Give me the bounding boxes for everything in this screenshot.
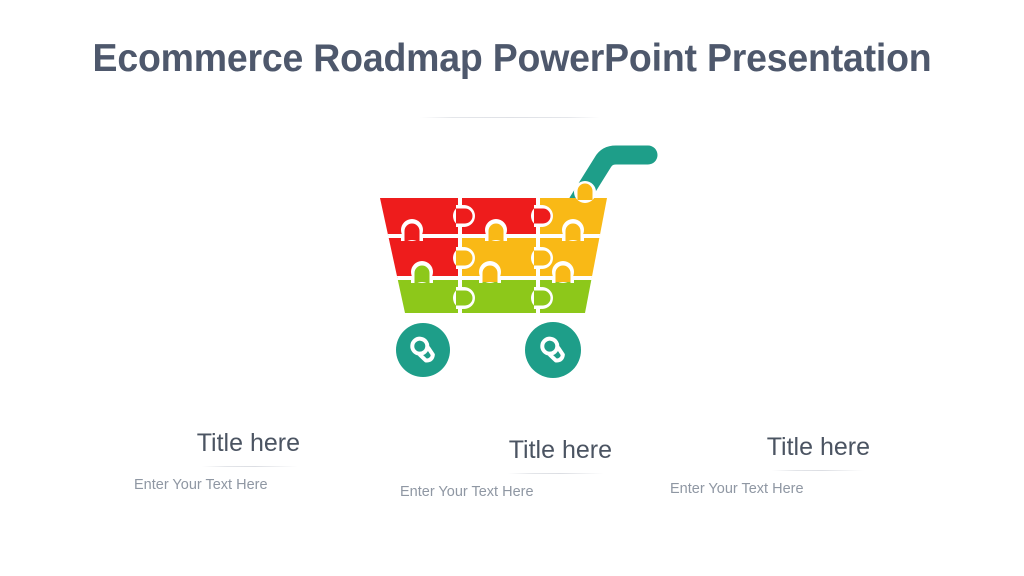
label-block-3-title: Title here — [658, 432, 894, 462]
slide-canvas: Ecommerce Roadmap PowerPoint Presentatio… — [0, 0, 1024, 576]
label-block-1: Title here Enter Your Text Here — [118, 428, 352, 495]
page-title: Ecommerce Roadmap PowerPoint Presentatio… — [20, 36, 1003, 82]
label-block-2-text: Enter Your Text Here — [390, 482, 630, 502]
label-block-1-rule — [202, 466, 298, 467]
label-block-2-rule — [508, 473, 604, 474]
label-block-2: Title here Enter Your Text Here — [390, 435, 630, 502]
label-block-3-text: Enter Your Text Here — [658, 479, 894, 499]
cart-wheel-left-icon — [396, 323, 450, 377]
label-block-1-title: Title here — [118, 428, 352, 458]
label-block-1-text: Enter Your Text Here — [118, 475, 352, 495]
puzzle-shopping-cart-graphic — [360, 140, 680, 390]
label-block-2-title: Title here — [390, 435, 630, 465]
cart-wheel-right-icon — [525, 322, 581, 378]
title-divider — [420, 117, 600, 118]
cart-basket-puzzle — [368, 190, 628, 322]
label-block-3: Title here Enter Your Text Here — [658, 432, 894, 499]
cart-top-knob — [574, 181, 596, 203]
label-block-3-rule — [772, 470, 864, 471]
